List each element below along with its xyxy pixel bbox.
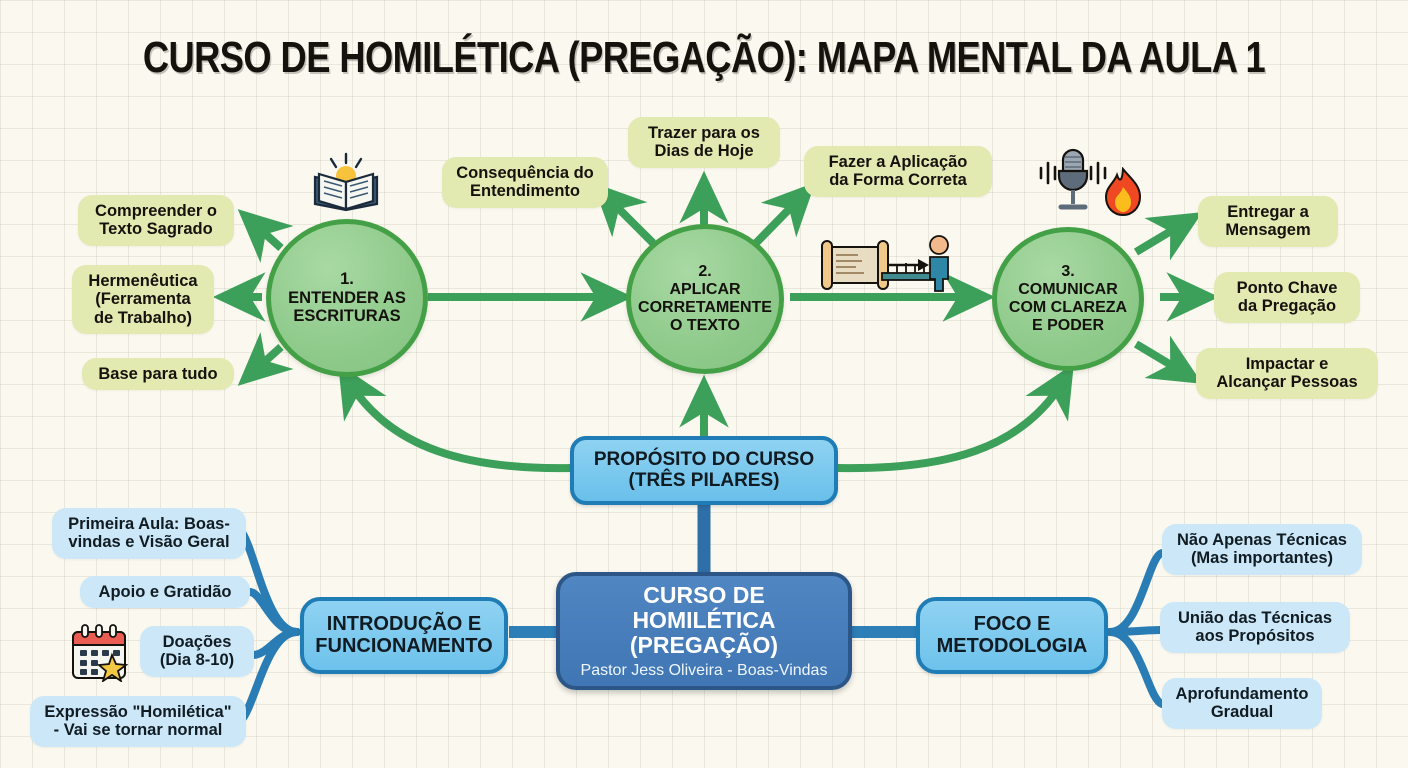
pillar-1-line2: ESCRITURAS — [288, 307, 406, 325]
pillar-2-line2: CORRETAMENTE — [638, 299, 772, 317]
leaf-text: Mensagem — [1225, 221, 1310, 239]
intro-leaf-3[interactable]: Doações (Dia 8-10) — [140, 626, 254, 677]
pillar-3-line1: COMUNICAR — [1009, 281, 1127, 299]
leaf-text: Expressão "Homilética" — [44, 703, 231, 721]
intro-leaf-1[interactable]: Primeira Aula: Boas- vindas e Visão Gera… — [52, 508, 246, 559]
wire-p3-leaf3 — [1136, 344, 1186, 374]
leaf-text: Gradual — [1176, 703, 1309, 721]
scroll-to-person-bridge-icon — [812, 227, 958, 299]
pillar-1-number: 1. — [288, 270, 406, 288]
leaf-text: Compreender o — [95, 202, 217, 220]
leaf-text: União das Técnicas — [1178, 609, 1332, 627]
purpose-line1: PROPÓSITO DO CURSO — [594, 449, 814, 470]
wire-focus-leaf3 — [1110, 632, 1162, 704]
leaf-text: Dias de Hoje — [648, 142, 760, 160]
pillar-2-leaf-3[interactable]: Fazer a Aplicação da Forma Correta — [804, 146, 992, 197]
pillar-2-leaf-1[interactable]: Consequência do Entendimento — [442, 157, 608, 208]
pillar-1-circle[interactable]: 1. ENTENDER AS ESCRITURAS — [266, 219, 428, 377]
pillar-1-line1: ENTENDER AS — [288, 289, 406, 307]
leaf-text: Consequência do — [456, 164, 594, 182]
leaf-text: da Forma Correta — [829, 171, 968, 189]
leaf-text: Trazer para os — [648, 124, 760, 142]
wire-p3-leaf1 — [1136, 222, 1186, 252]
leaf-text: - Vai se tornar normal — [44, 721, 231, 739]
page-title: CURSO DE HOMILÉTICA (PREGAÇÃO): MAPA MEN… — [49, 34, 1358, 83]
purpose-line2: (TRÊS PILARES) — [594, 470, 814, 491]
pillar-3-leaf-3[interactable]: Impactar e Alcançar Pessoas — [1196, 348, 1378, 399]
leaf-text: Fazer a Aplicação — [829, 153, 968, 171]
pillar-1-leaf-1[interactable]: Compreender o Texto Sagrado — [78, 195, 234, 246]
open-book-icon — [309, 152, 383, 214]
pillar-2-leaf-2[interactable]: Trazer para os Dias de Hoje — [628, 117, 780, 168]
pillar-2-number: 2. — [638, 263, 772, 281]
leaf-text: Não Apenas Técnicas — [1177, 531, 1347, 549]
leaf-text: (Mas importantes) — [1177, 549, 1347, 567]
leaf-text: Texto Sagrado — [95, 220, 217, 238]
intro-leaf-4[interactable]: Expressão "Homilética" - Vai se tornar n… — [30, 696, 246, 747]
leaf-text: Ponto Chave — [1237, 279, 1338, 297]
pillar-3-line3: E PODER — [1009, 317, 1127, 335]
leaf-text: da Pregação — [1237, 297, 1338, 315]
root-title-line1: CURSO DE HOMILÉTICA — [578, 583, 830, 634]
leaf-text: Apoio e Gratidão — [99, 583, 232, 601]
leaf-text: Primeira Aula: Boas- — [68, 515, 230, 533]
pillar-3-leaf-1[interactable]: Entregar a Mensagem — [1198, 196, 1338, 247]
intro-branch-node[interactable]: INTRODUÇÃO E FUNCIONAMENTO — [300, 597, 508, 674]
calendar-star-icon — [67, 622, 131, 682]
root-title-line2: (PREGAÇÃO) — [630, 633, 778, 658]
intro-leaf-2[interactable]: Apoio e Gratidão — [80, 576, 250, 608]
leaf-text: (Dia 8-10) — [160, 651, 234, 669]
pillar-3-leaf-2[interactable]: Ponto Chave da Pregação — [1214, 272, 1360, 323]
pillar-1-leaf-3[interactable]: Base para tudo — [82, 358, 234, 390]
focus-branch-node[interactable]: FOCO E METODOLOGIA — [916, 597, 1108, 674]
wire-p2-leaf3 — [756, 196, 802, 243]
pillar-1-leaf-2[interactable]: Hermenêutica (Ferramenta de Trabalho) — [72, 265, 214, 334]
wire-purpose-p3 — [838, 380, 1064, 468]
wire-intro-leaf1 — [243, 534, 297, 632]
pillar-2-line3: O TEXTO — [638, 317, 772, 335]
wire-p2-leaf1 — [606, 196, 653, 243]
root-node[interactable]: CURSO DE HOMILÉTICA (PREGAÇÃO) Pastor Je… — [556, 572, 852, 690]
pillar-3-circle[interactable]: 3. COMUNICAR COM CLAREZA E PODER — [992, 227, 1144, 371]
leaf-text: vindas e Visão Geral — [68, 533, 230, 551]
wire-intro-leaf3 — [253, 632, 297, 655]
wire-purpose-p1 — [348, 380, 572, 468]
intro-line1: INTRODUÇÃO E — [315, 613, 492, 635]
leaf-text: de Trabalho) — [88, 309, 197, 327]
purpose-node[interactable]: PROPÓSITO DO CURSO (TRÊS PILARES) — [570, 436, 838, 505]
leaf-text: Entregar a — [1225, 203, 1310, 221]
leaf-text: aos Propósitos — [1178, 627, 1332, 645]
focus-line1: FOCO E — [937, 613, 1088, 635]
focus-leaf-3[interactable]: Aprofundamento Gradual — [1162, 678, 1322, 729]
pillar-3-line2: COM CLAREZA — [1009, 299, 1127, 317]
leaf-text: Aprofundamento — [1176, 685, 1309, 703]
leaf-text: Impactar e — [1216, 355, 1357, 373]
mindmap-canvas: CURSO DE HOMILÉTICA (PREGAÇÃO): MAPA MEN… — [0, 0, 1408, 768]
leaf-text: Doações — [160, 633, 234, 651]
focus-leaf-2[interactable]: União das Técnicas aos Propósitos — [1160, 602, 1350, 653]
leaf-text: Base para tudo — [98, 365, 217, 383]
wire-intro-leaf2 — [250, 592, 297, 632]
focus-line2: METODOLOGIA — [937, 635, 1088, 657]
focus-leaf-1[interactable]: Não Apenas Técnicas (Mas importantes) — [1162, 524, 1362, 575]
pillar-3-number: 3. — [1009, 263, 1127, 281]
leaf-text: (Ferramenta — [88, 290, 197, 308]
wire-p1-leaf1 — [252, 222, 281, 248]
root-subtitle: Pastor Jess Oliveira - Boas-Vindas — [581, 662, 828, 680]
leaf-text: Hermenêutica — [88, 272, 197, 290]
wire-focus-leaf2 — [1110, 630, 1160, 632]
leaf-text: Entendimento — [456, 182, 594, 200]
intro-line2: FUNCIONAMENTO — [315, 635, 492, 657]
fire-icon — [1100, 167, 1146, 217]
pillar-2-circle[interactable]: 2. APLICAR CORRETAMENTE O TEXTO — [626, 224, 784, 374]
wire-focus-leaf1 — [1110, 553, 1162, 632]
wire-p1-leaf3 — [252, 347, 281, 373]
leaf-text: Alcançar Pessoas — [1216, 373, 1357, 391]
pillar-2-line1: APLICAR — [638, 281, 772, 299]
